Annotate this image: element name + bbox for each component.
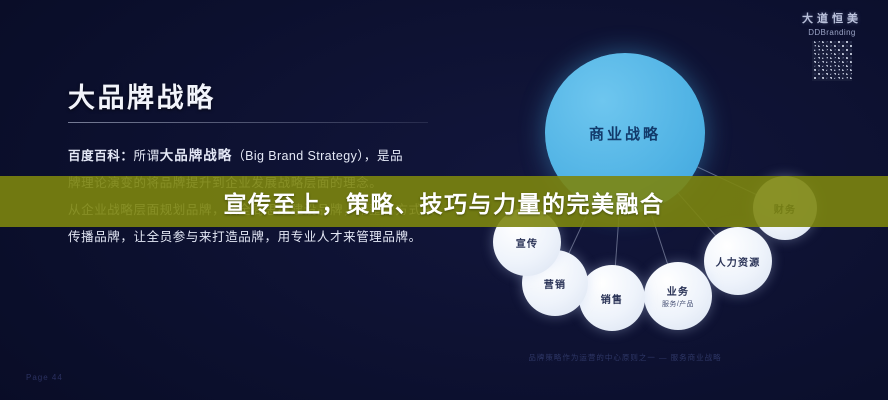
diagram-node-business-sublabel: 服务/产品 xyxy=(662,299,694,309)
slide-canvas: 大品牌战略 百度百科：所谓大品牌战略（Big Brand Strategy），是… xyxy=(0,0,888,400)
slide-title: 大品牌战略 xyxy=(68,76,216,115)
headline-text: 宣传至上，策略、技巧与力量的完美融合 xyxy=(0,176,888,227)
body-line-1: 百度百科：所谓大品牌战略（Big Brand Strategy），是品 xyxy=(68,142,440,170)
body-line-1-highlight: 大品牌战略 xyxy=(160,148,233,163)
body-line-1-english: （Big Brand Strategy） xyxy=(232,149,364,163)
body-line-1-lead: 百度百科： xyxy=(68,149,134,163)
logo-chinese-name: 大道恒美 xyxy=(794,10,870,26)
diagram-node-hub-label: 商业战略 xyxy=(589,123,661,144)
diagram-node-hr-label: 人力资源 xyxy=(716,254,761,269)
diagram-node-business[interactable]: 业务 服务/产品 xyxy=(644,262,712,330)
body-line-1-plain2: ，是品 xyxy=(364,149,403,163)
body-line-1-plain1: 所谓 xyxy=(134,149,160,163)
diagram-node-sales-label: 销售 xyxy=(601,291,623,306)
title-divider xyxy=(68,122,428,123)
page-number: Page 44 xyxy=(26,373,63,382)
diagram-node-sales[interactable]: 销售 xyxy=(579,265,645,331)
body-line-4: 传播品牌，让全员参与来打造品牌，用专业人才来管理品牌。 xyxy=(68,224,440,251)
diagram-node-hr[interactable]: 人力资源 xyxy=(704,227,772,295)
diagram-node-marketing-label: 营销 xyxy=(544,276,566,291)
diagram-node-business-label: 业务 xyxy=(667,283,689,298)
diagram-caption: 品牌策略作为运营的中心原则之一 — 服务商业战略 xyxy=(455,352,795,363)
diagram-node-promotion-label: 宣传 xyxy=(516,235,538,250)
